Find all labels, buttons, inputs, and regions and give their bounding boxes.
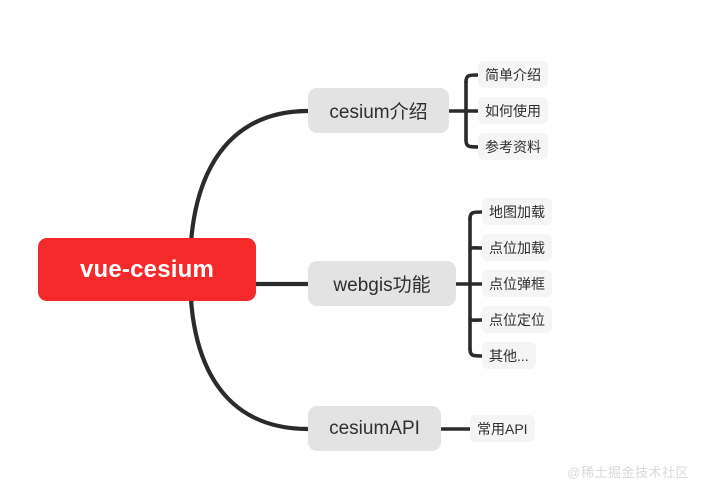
mindmap-leaf-node[interactable]: 点位弹框 [482, 270, 552, 297]
watermark: @稀土掘金技术社区 [567, 462, 689, 481]
mindmap-leaf-label: 点位定位 [489, 310, 545, 330]
mindmap-root-node[interactable]: vue-cesium [38, 238, 256, 301]
mindmap-leaf-node[interactable]: 点位加载 [482, 234, 552, 261]
mindmap-leaf-label: 地图加载 [489, 202, 545, 222]
connector-branch-1-to-leaf-1 [470, 248, 482, 250]
connector-branch-1-to-leaf-0 [470, 212, 482, 219]
mindmap-leaf-node[interactable]: 常用API [470, 415, 535, 442]
connector-branch-0-to-leaf-0 [466, 75, 478, 82]
mindmap-leaf-label: 其他... [489, 346, 529, 366]
mindmap-leaf-label: 点位加载 [489, 238, 545, 258]
mindmap-branch-label: cesiumAPI [329, 418, 420, 440]
mindmap-leaf-node[interactable]: 参考资料 [478, 133, 548, 160]
mindmap-leaf-node[interactable]: 如何使用 [478, 97, 548, 124]
mindmap-leaf-label: 参考资料 [485, 137, 541, 157]
mindmap-branch-node-cesium-intro[interactable]: cesium介绍 [308, 88, 449, 133]
mindmap-leaf-label: 点位弹框 [489, 274, 545, 294]
connector-branch-1-to-leaf-4 [470, 349, 482, 356]
mindmap-branch-label: cesium介绍 [329, 97, 427, 124]
mindmap-branch-node-webgis-features[interactable]: webgis功能 [308, 261, 456, 306]
mindmap-leaf-node[interactable]: 其他... [482, 342, 536, 369]
mindmap-leaf-label: 简单介绍 [485, 65, 541, 85]
mindmap-leaf-node[interactable]: 简单介绍 [478, 61, 548, 88]
connector-branch-0-to-leaf-2 [466, 140, 478, 147]
mindmap-leaf-node[interactable]: 地图加载 [482, 198, 552, 225]
mindmap-root-label: vue-cesium [80, 256, 214, 284]
watermark-label: @稀土掘金技术社区 [567, 465, 689, 480]
connector-branch-1-to-leaf-3 [470, 318, 482, 320]
mindmap-branch-node-cesium-api[interactable]: cesiumAPI [308, 406, 441, 451]
mindmap-leaf-label: 常用API [477, 419, 528, 439]
mindmap-leaf-node[interactable]: 点位定位 [482, 306, 552, 333]
mindmap-canvas: vue-cesium cesium介绍 webgis功能 cesiumAPI 简… [0, 0, 703, 493]
mindmap-leaf-label: 如何使用 [485, 101, 541, 121]
mindmap-branch-label: webgis功能 [333, 270, 430, 297]
